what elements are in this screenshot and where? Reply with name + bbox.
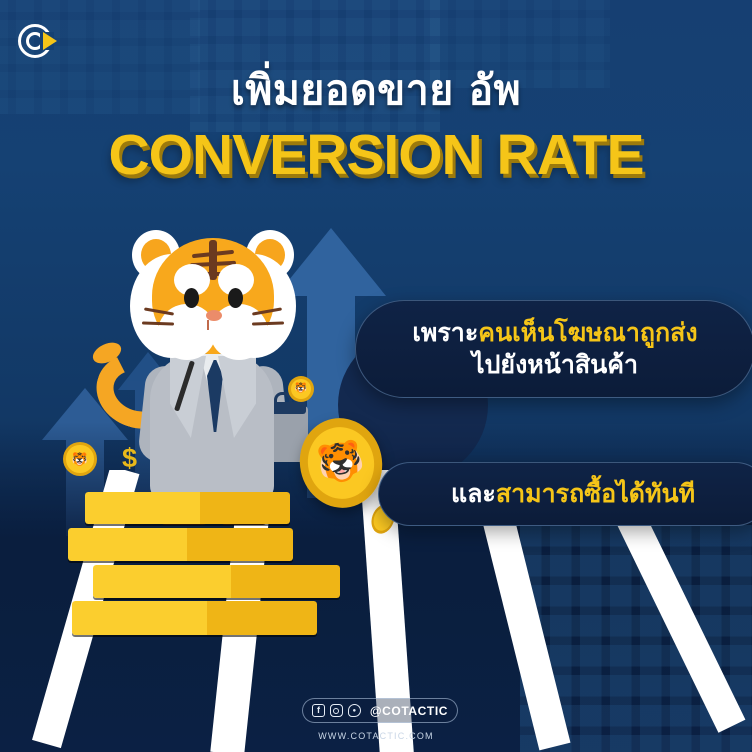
- bubble-buy-now-yellow: สามารถซื้อได้ทันที: [496, 479, 695, 508]
- page-title-english: CONVERSION RATE: [0, 122, 752, 188]
- line-icon[interactable]: ●: [348, 704, 361, 717]
- tiger-eye-left: [184, 288, 199, 308]
- logo-megaphone-icon: [43, 32, 57, 50]
- social-handle: @COTACTIC: [370, 704, 448, 718]
- bubble-reason-line2: ไปยังหน้าสินค้า: [472, 350, 638, 379]
- social-footer-pill[interactable]: f ● @COTACTIC: [302, 698, 458, 723]
- coin-bar: [85, 492, 290, 524]
- bubble-reason-line1-yellow: คนเห็นโฆษณาถูกส่ง: [478, 318, 697, 347]
- bubble-reason[interactable]: เพราะคนเห็นโฆษณาถูกส่ง ไปยังหน้าสินค้า: [355, 300, 752, 398]
- promo-poster: เพิ่มยอดขาย อัพ CONVERSION RATE: [0, 0, 752, 752]
- coin-bar: [93, 565, 340, 598]
- facebook-icon[interactable]: f: [312, 704, 325, 717]
- dollar-symbol-icon: $: [122, 443, 137, 474]
- coin-bar: [68, 528, 293, 561]
- bubble-buy-now[interactable]: และสามารถซื้อได้ทันที: [378, 462, 752, 526]
- bubble-reason-line1-white: เพราะ: [412, 318, 478, 347]
- bubble-buy-now-white: และ: [451, 479, 496, 508]
- page-title-thai: เพิ่มยอดขาย อัพ: [0, 58, 752, 123]
- tiger-eye-right: [228, 288, 243, 308]
- gold-coin-small: 🐯: [288, 376, 314, 402]
- instagram-icon[interactable]: [330, 704, 343, 717]
- coin-bar: [72, 601, 317, 635]
- gold-coin-small: 🐯: [63, 442, 97, 476]
- tiger-businessman-mascot: [108, 226, 318, 526]
- website-url: WWW.COTACTIC.COM: [0, 731, 752, 741]
- cotactic-logo[interactable]: [18, 22, 62, 62]
- tiger-mouth: [207, 320, 209, 330]
